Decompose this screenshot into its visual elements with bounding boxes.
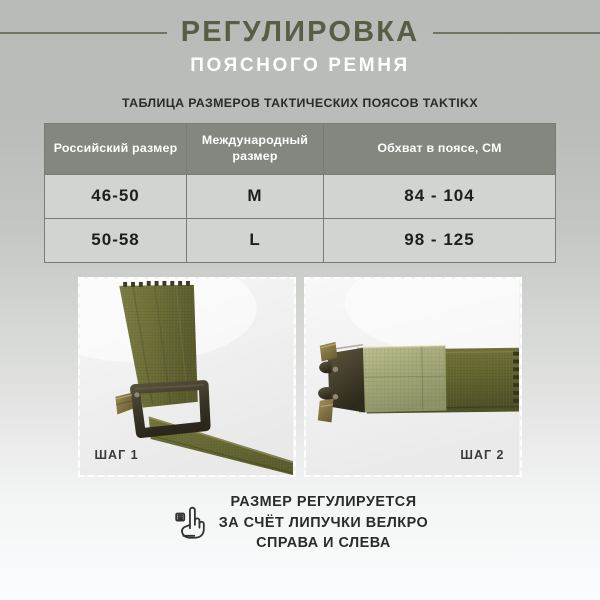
column-header-international-size: Международный размер [187,124,324,175]
cell-russian-size: 50-58 [45,218,187,262]
note-line-1: РАЗМЕР РЕГУЛИРУЕТСЯ [219,492,428,513]
cell-international-size: M [187,174,324,218]
table-header-row: Российский размер Международный размер О… [45,124,556,175]
step-1-label: ШАГ 1 [95,448,139,462]
adjustment-note: РАЗМЕР РЕГУЛИРУЕТСЯ ЗА СЧЁТ ЛИПУЧКИ ВЕЛК… [0,492,600,554]
size-table-caption: ТАБЛИЦА РАЗМЕРОВ ТАКТИЧЕСКИХ ПОЯСОВ TAKT… [0,96,600,110]
cell-international-size: L [187,218,324,262]
page-subtitle-main: ПОЯСНОГО РЕМНЯ [0,56,600,75]
table-row: 50-58 L 98 - 125 [45,218,556,262]
step-panel-2: ШАГ 2 [304,277,522,477]
table-row: 46-50 M 84 - 104 [45,174,556,218]
column-header-russian-size: Российский размер [45,124,187,175]
step-panel-1: ШАГ 1 [78,277,296,477]
tactical-belt-velcro-open-photo [80,279,294,475]
title-rule-left [0,32,167,34]
title-row: РЕГУЛИРОВКА [0,18,600,47]
step-panels: ШАГ 1 [78,277,523,477]
cell-waist-circumference: 84 - 104 [323,174,555,218]
size-table-wrapper: Российский размер Международный размер О… [44,123,556,263]
page-title: РЕГУЛИРОВКА [181,18,420,47]
tactical-belt-velcro-closed-photo [306,279,520,475]
cell-waist-circumference: 98 - 125 [323,218,555,262]
cell-russian-size: 46-50 [45,174,187,218]
note-line-3: СПРАВА И СЛЕВА [219,533,428,554]
title-rule-right [433,32,600,34]
note-line-2: ЗА СЧЁТ ЛИПУЧКИ ВЕЛКРО [219,513,428,534]
pointing-up-hand-icon [172,504,206,542]
step-2-label: ШАГ 2 [460,448,504,462]
size-table: Российский размер Международный размер О… [44,123,556,263]
adjustment-note-text: РАЗМЕР РЕГУЛИРУЕТСЯ ЗА СЧЁТ ЛИПУЧКИ ВЕЛК… [219,492,428,554]
column-header-waist-circumference: Обхват в поясе, СМ [323,124,555,175]
page-header: РЕГУЛИРОВКА ПОЯСНОГО РЕМНЯ ТАБЛИЦА РАЗМЕ… [0,0,600,110]
